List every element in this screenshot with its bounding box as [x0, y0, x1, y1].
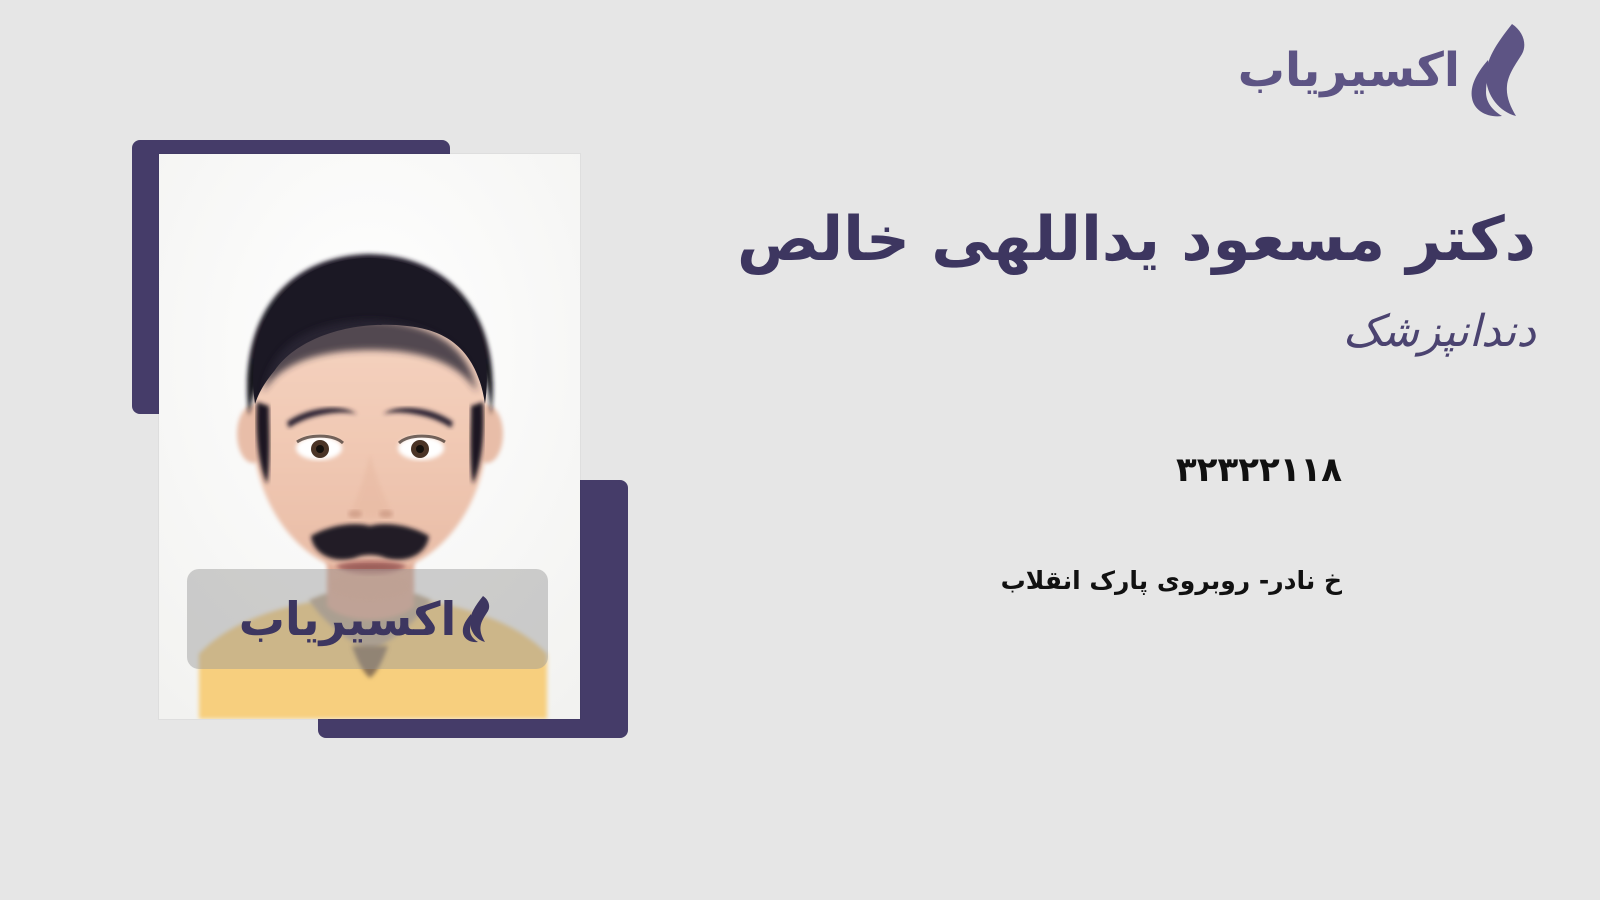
brand-logo[interactable]: اکسیریاب [1238, 22, 1538, 118]
flame-droplet-icon [1466, 22, 1538, 118]
doctor-profile-card: اکسیریاب [0, 0, 1600, 900]
doctor-name: دکتر مسعود یداللهی خالص [636, 206, 1536, 274]
photo-watermark: اکسیریاب [187, 569, 548, 669]
doctor-info: دکتر مسعود یداللهی خالص دندانپزشک [636, 206, 1536, 357]
watermark-flame-droplet-icon [460, 594, 496, 644]
photo-composition: اکسیریاب [132, 140, 628, 738]
brand-name: اکسیریاب [1238, 47, 1460, 94]
doctor-specialty: دندانپزشک [636, 308, 1536, 356]
watermark-brand-name: اکسیریاب [239, 596, 457, 642]
phone-number[interactable]: ۳۲۳۲۲۱۱۸ [1176, 450, 1342, 490]
doctor-photo-card[interactable]: اکسیریاب [159, 154, 580, 719]
address-text[interactable]: خ نادر- روبروی پارک انقلاب [1001, 566, 1342, 595]
